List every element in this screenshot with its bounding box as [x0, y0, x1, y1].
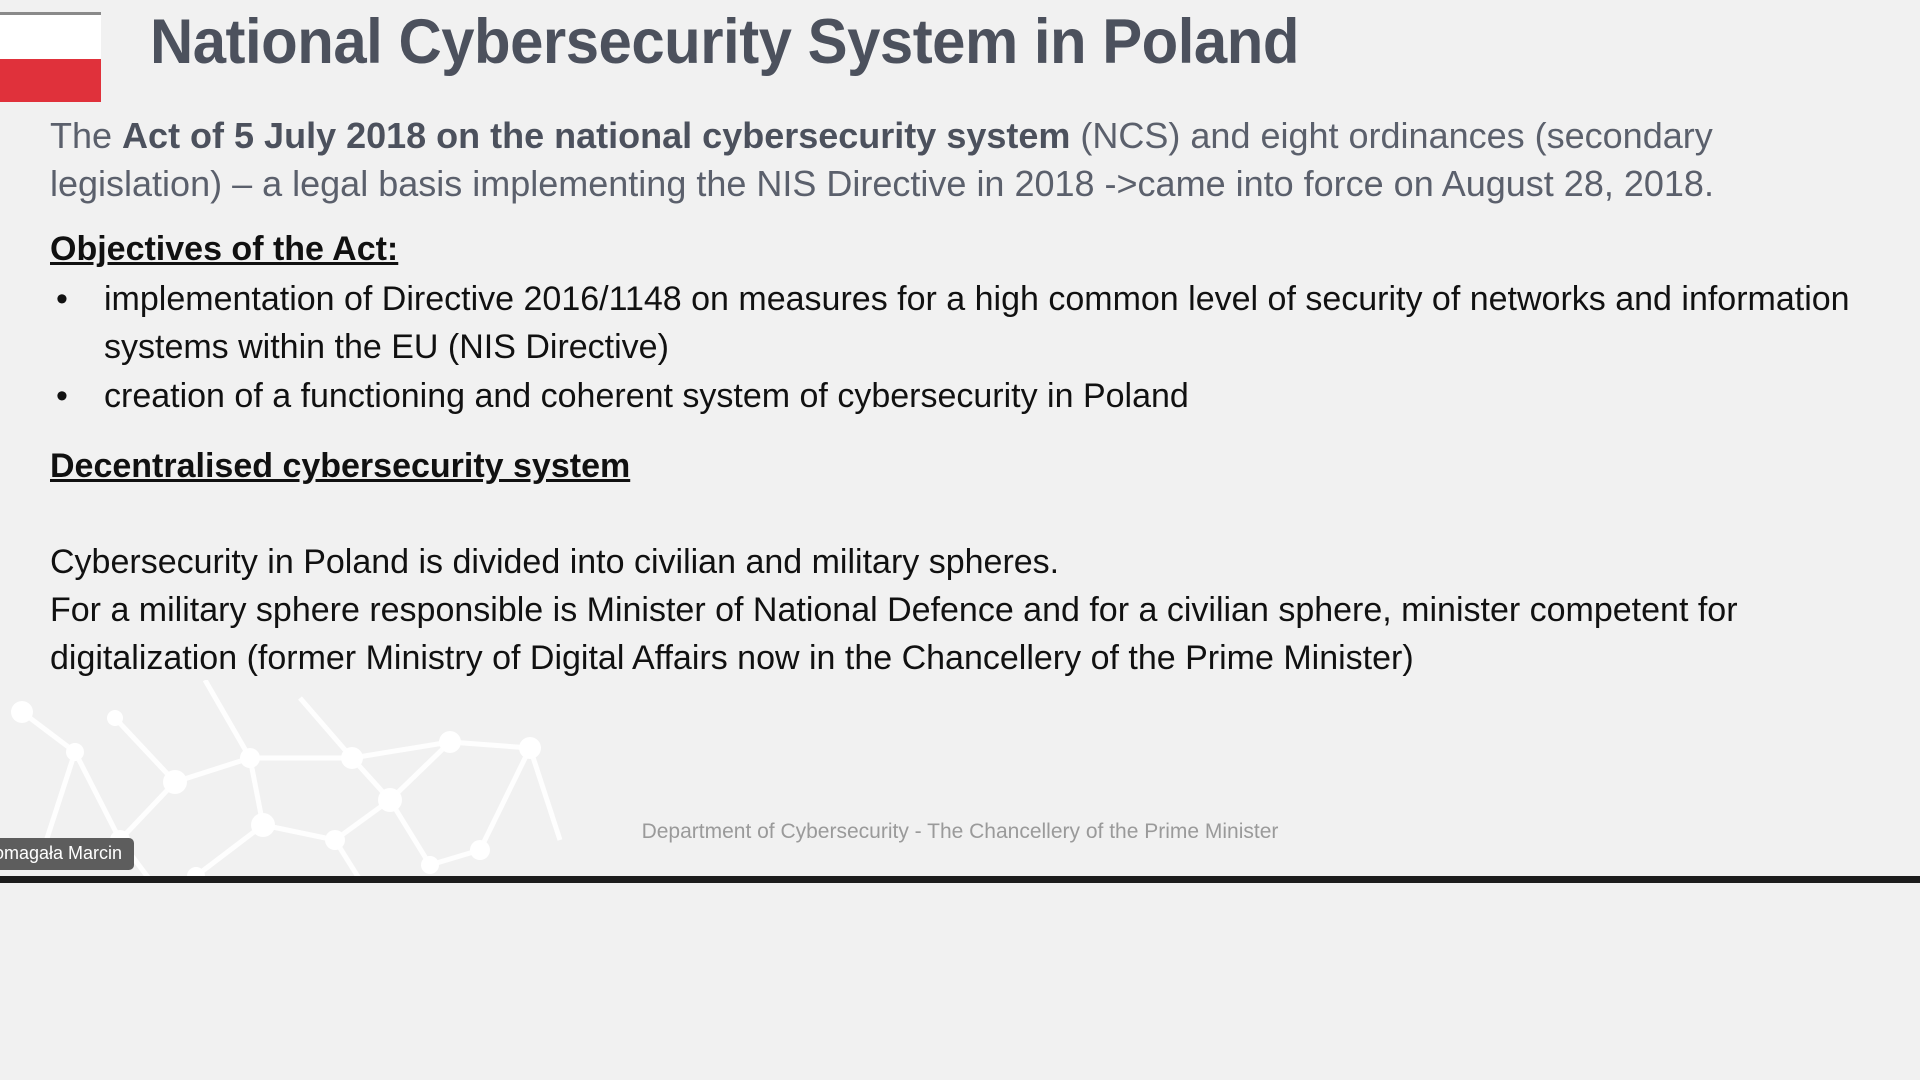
bullet-icon: •: [56, 275, 68, 323]
flag-band-white: [0, 15, 101, 59]
slide-title: National Cybersecurity System in Poland: [150, 6, 1299, 78]
intro-bold-act: Act of 5 July 2018 on the national cyber…: [122, 115, 1070, 156]
flag-band-red: [0, 59, 101, 102]
objectives-list: •implementation of Directive 2016/1148 o…: [50, 275, 1890, 420]
decentralised-heading: Decentralised cybersecurity system: [50, 447, 630, 486]
decentralised-paragraph-1: Cybersecurity in Poland is divided into …: [50, 538, 1850, 586]
spacer: [50, 421, 1890, 447]
list-item-text: creation of a functioning and coherent s…: [104, 377, 1189, 415]
intro-paragraph: The Act of 5 July 2018 on the national c…: [50, 112, 1860, 208]
slide-canvas: National Cybersecurity System in Poland …: [0, 0, 1920, 880]
footer-text: Department of Cybersecurity - The Chance…: [0, 820, 1920, 844]
slide-body: The Act of 5 July 2018 on the national c…: [50, 112, 1890, 682]
list-item: •implementation of Directive 2016/1148 o…: [50, 275, 1854, 371]
decentralised-heading-wrap: Decentralised cybersecurity system: [50, 447, 1890, 490]
list-item: •creation of a functioning and coherent …: [50, 372, 1854, 420]
lower-empty-area: [0, 884, 1920, 1080]
decentralised-paragraph-2: For a military sphere responsible is Min…: [50, 586, 1850, 682]
list-item-text: implementation of Directive 2016/1148 on…: [104, 280, 1850, 366]
objectives-heading: Objectives of the Act:: [50, 230, 398, 269]
objectives-heading-wrap: Objectives of the Act:: [50, 230, 1890, 273]
bullet-icon: •: [56, 372, 68, 420]
poland-flag-icon: [0, 12, 101, 99]
bottom-divider: [0, 876, 1920, 883]
presenter-name-badge: omagała Marcin: [0, 838, 134, 870]
spacer: [50, 492, 1890, 538]
intro-lead: The: [50, 115, 122, 156]
